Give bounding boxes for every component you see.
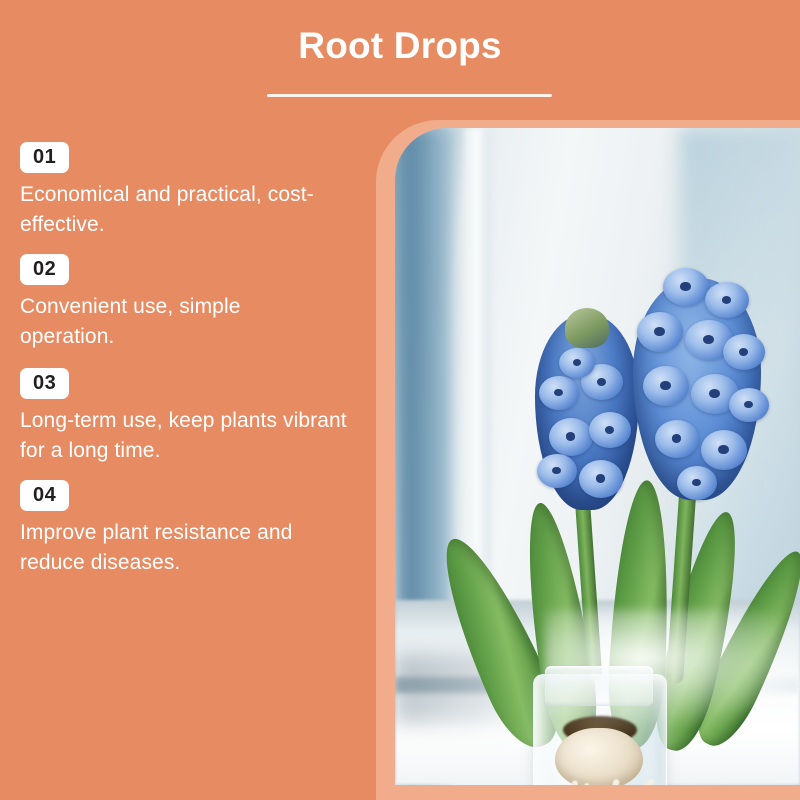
floret: [643, 366, 689, 406]
plant-bulb: [555, 728, 643, 785]
feature-item-03: 03 Long-term use, keep plants vibrant fo…: [20, 368, 370, 466]
feature-item-02: 02 Convenient use, simple operation.: [20, 254, 370, 352]
hyacinth-flower-spike-right: [633, 278, 761, 500]
feature-number-badge: 01: [20, 142, 69, 173]
floret: [705, 282, 749, 318]
feature-text: Convenient use, simple operation.: [20, 292, 310, 352]
floret: [537, 454, 577, 488]
floret: [655, 420, 699, 458]
floret: [637, 312, 683, 352]
hyacinth-flower-spike-left: [535, 314, 639, 510]
floret: [539, 376, 579, 410]
product-feature-poster: Root Drops 01 Economical and practical, …: [0, 0, 800, 800]
feature-number-badge: 02: [20, 254, 69, 285]
floret: [677, 466, 717, 500]
floret: [663, 268, 709, 306]
floret: [559, 348, 595, 378]
feature-item-04: 04 Improve plant resistance and reduce d…: [20, 480, 370, 578]
floret: [701, 430, 747, 470]
feature-text: Long-term use, keep plants vibrant for a…: [20, 406, 350, 466]
flower-bud: [565, 308, 609, 348]
floret: [723, 334, 765, 370]
feature-text: Improve plant resistance and reduce dise…: [20, 518, 355, 578]
product-photo: [395, 128, 800, 785]
floret: [729, 388, 769, 422]
feature-text: Economical and practical, cost-effective…: [20, 180, 320, 240]
page-title: Root Drops: [0, 22, 800, 70]
feature-item-01: 01 Economical and practical, cost-effect…: [20, 142, 370, 240]
feature-number-badge: 04: [20, 480, 69, 511]
title-divider: [267, 94, 552, 97]
floret: [589, 412, 631, 448]
feature-list: 01 Economical and practical, cost-effect…: [20, 142, 370, 588]
floret: [549, 418, 593, 456]
sunlight-highlight: [545, 610, 800, 730]
feature-number-badge: 03: [20, 368, 69, 399]
floret: [579, 460, 623, 498]
poster-header: Root Drops: [0, 0, 800, 118]
